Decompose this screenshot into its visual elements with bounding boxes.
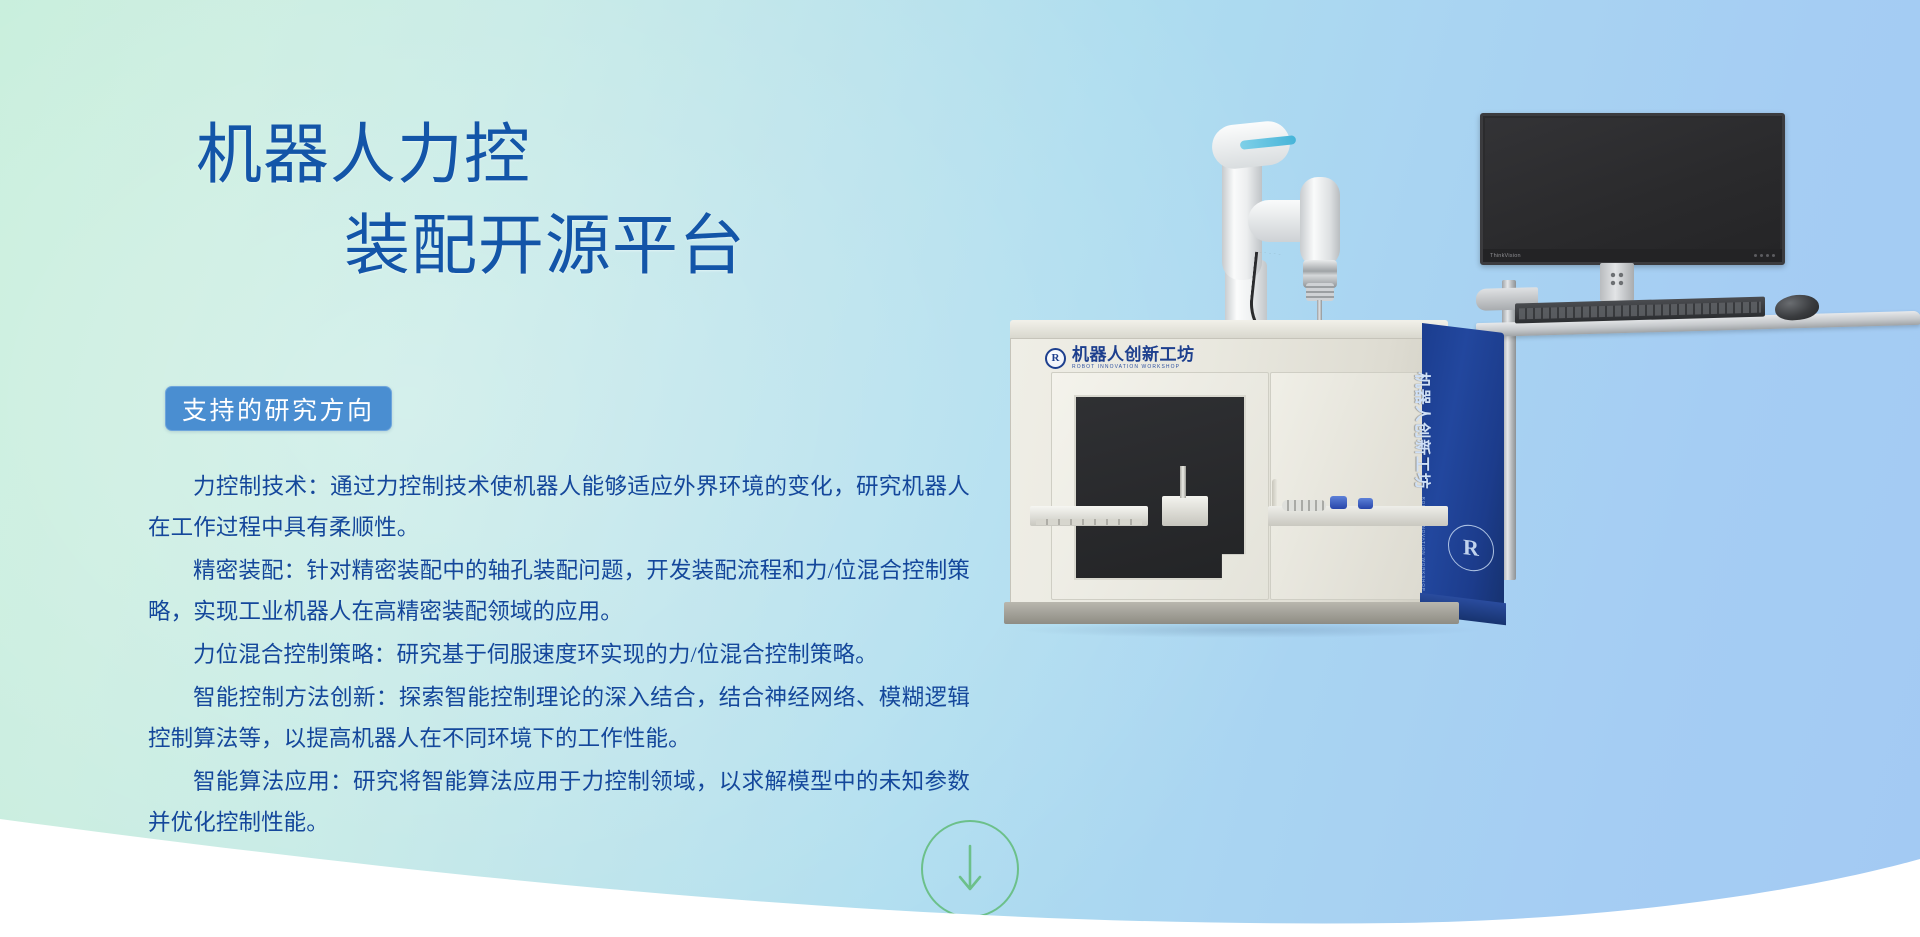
cabinet-logo: R 机器人创新工坊 ROBOT INNOVATION WORKSHOP	[1045, 346, 1195, 370]
research-directions-list: 力控制技术：通过力控制技术使机器人能够适应外界环境的变化，研究机器人在工作过程中…	[148, 466, 970, 845]
research-direction-item: 智能控制方法创新：探索智能控制理论的深入结合，结合神经网络、模糊逻辑控制算法等，…	[148, 677, 970, 759]
equipment-cabinet: R 机器人创新工坊 ROBOT INNOVATION WORKSHOP 机器人创…	[1010, 320, 1500, 630]
research-direction-item: 力位混合控制策略：研究基于伺服速度环实现的力/位混合控制策略。	[148, 634, 970, 675]
cabinet-logo-text: 机器人创新工坊 ROBOT INNOVATION WORKSHOP	[1072, 346, 1195, 370]
side-panel-logo-cn: 机器人创新工坊	[1412, 372, 1436, 490]
linear-rail-fixture	[1030, 506, 1148, 526]
cabinet-worktop	[1010, 320, 1448, 340]
blue-peg-part	[1358, 498, 1373, 509]
hero-banner: 机器人力控 装配开源平台 支持的研究方向 力控制技术：通过力控制技术使机器人能够…	[0, 0, 1920, 937]
side-panel-logo: 机器人创新工坊 ROBOT INNOVATION WORKSHOP	[1412, 372, 1436, 562]
section-badge-research-directions: 支持的研究方向	[165, 386, 392, 431]
cabinet-logo-en: ROBOT INNOVATION WORKSHOP	[1072, 365, 1195, 370]
page-title-line-1: 机器人力控	[196, 118, 1096, 195]
fixture-block	[1162, 496, 1208, 526]
monitor-display: ThinkVision	[1480, 113, 1785, 265]
monitor-screen	[1485, 118, 1780, 249]
cabinet-right-door	[1270, 372, 1428, 600]
research-direction-item: 精密装配：针对精密装配中的轴孔装配问题，开发装配流程和力/位混合控制策略，实现工…	[148, 550, 970, 632]
research-direction-item: 智能算法应用：研究将智能算法应用于力控制领域，以求解模型中的未知参数并优化控制性…	[148, 761, 970, 843]
page-title-line-2: 装配开源平台	[344, 209, 1096, 286]
cabinet-body: R 机器人创新工坊 ROBOT INNOVATION WORKSHOP	[1010, 338, 1448, 606]
blue-peg-part	[1330, 496, 1347, 509]
cabinet-base-plinth	[1004, 602, 1459, 624]
cabinet-left-door	[1051, 372, 1269, 600]
equipment-photo: ThinkVision	[1010, 95, 1910, 815]
page-title: 机器人力控 装配开源平台	[196, 118, 1096, 285]
peg-hole-array	[1282, 500, 1326, 511]
monitor-brand-label: ThinkVision	[1490, 253, 1521, 259]
monitor-controls-icon	[1754, 254, 1775, 257]
research-direction-item: 力控制技术：通过力控制技术使机器人能够适应外界环境的变化，研究机器人在工作过程中…	[148, 466, 970, 548]
cabinet-viewing-window	[1074, 395, 1246, 580]
robot-workshop-logo-icon: R	[1045, 348, 1066, 369]
scroll-down-button[interactable]	[921, 820, 1019, 918]
monitor-bezel: ThinkVision	[1483, 249, 1782, 262]
fixture-alignment-pin	[1180, 466, 1186, 498]
monitor-mount-bracket	[1600, 263, 1634, 301]
equipment-shadow	[1015, 622, 1485, 638]
arrow-down-icon	[955, 842, 985, 896]
robot-arm-forearm-link	[1300, 177, 1340, 267]
cabinet-logo-cn: 机器人创新工坊	[1072, 346, 1195, 363]
